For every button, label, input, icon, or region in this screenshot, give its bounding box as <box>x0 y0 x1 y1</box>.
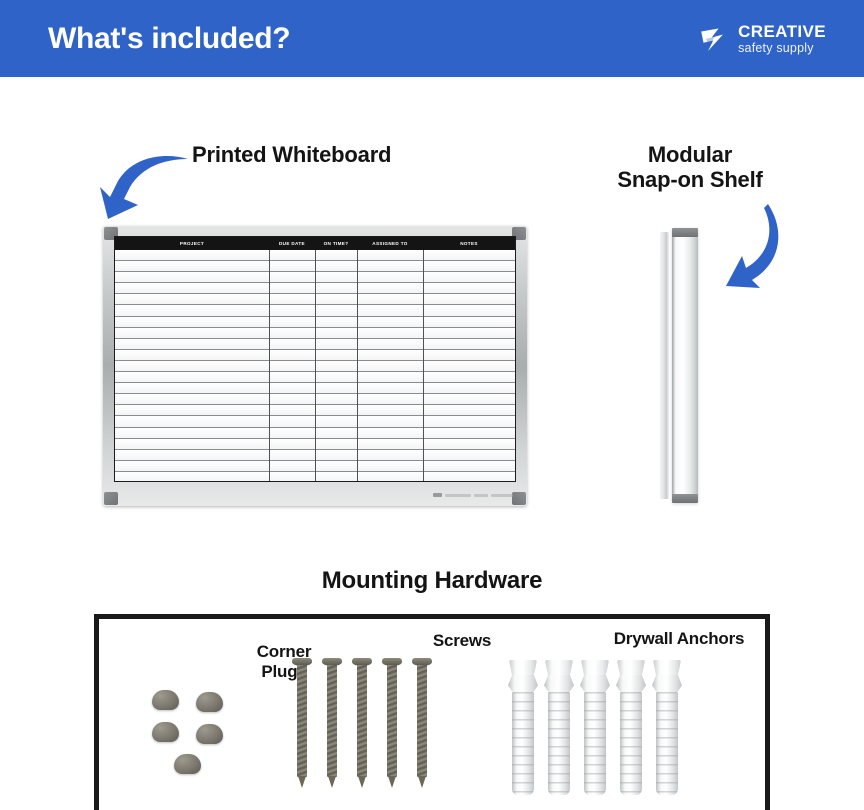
shelf-heading: Modular Snap-on Shelf <box>580 143 800 192</box>
drywall-anchor <box>544 660 574 795</box>
drywall-anchor <box>508 660 538 795</box>
brand-mark-bar-3 <box>491 494 513 497</box>
whiteboard-column-divider-3 <box>357 250 358 481</box>
mounting-hardware-heading: Mounting Hardware <box>230 568 634 595</box>
screw-shaft <box>417 665 427 777</box>
anchor-body <box>512 692 534 795</box>
shelf-front-panel <box>672 228 698 503</box>
screw <box>292 658 312 788</box>
anchor-body <box>620 692 642 795</box>
anchor-collar <box>653 660 681 677</box>
anchor-body <box>548 692 570 795</box>
shelf-pointer-arrow-icon <box>722 202 792 300</box>
screw-shaft <box>387 665 397 777</box>
drywall-anchors-label: Drywall Anchors <box>529 629 829 649</box>
screw <box>322 658 342 788</box>
shelf-end-cap-top <box>672 228 698 237</box>
anchor-body <box>656 692 678 795</box>
screw-shaft <box>327 665 337 777</box>
whiteboard-column-header-due-date: DUE DATE <box>269 237 315 250</box>
logo-wordmark: CREATIVE safety supply <box>738 23 826 55</box>
whiteboard-column-header-assigned-to: ASSIGNED TO <box>357 237 423 250</box>
whiteboard-column-divider-2 <box>315 250 316 481</box>
anchor-collar <box>617 660 645 677</box>
whiteboard-column-divider-4 <box>423 250 424 481</box>
corner-plug <box>152 722 179 742</box>
screw <box>412 658 432 788</box>
screws-group <box>292 658 434 788</box>
shelf-back-rail <box>660 232 669 499</box>
screw-tip <box>388 776 396 788</box>
whiteboard-surface: PROJECTDUE DATEON TIME?ASSIGNED TONOTES <box>114 236 516 482</box>
screw <box>352 658 372 788</box>
brand-mark-bar-2 <box>474 494 488 497</box>
anchor-body <box>584 692 606 795</box>
whiteboard-column-header-row: PROJECTDUE DATEON TIME?ASSIGNED TONOTES <box>115 237 515 250</box>
shelf-end-cap-bottom <box>672 494 698 503</box>
anchor-collar <box>545 660 573 677</box>
screw-tip <box>418 776 426 788</box>
screw-tip <box>358 776 366 788</box>
whiteboard-column-header-project: PROJECT <box>115 237 269 250</box>
corner-plugs-group <box>152 690 228 770</box>
whiteboard-grid <box>115 250 515 481</box>
creative-safety-supply-arrow-logo-icon <box>699 24 729 54</box>
logo-text-secondary: safety supply <box>738 42 826 55</box>
whiteboard-column-header-notes: NOTES <box>423 237 515 250</box>
corner-plug <box>152 690 179 710</box>
drywall-anchor <box>616 660 646 795</box>
screw-tip <box>298 776 306 788</box>
modular-snap-on-shelf <box>660 228 698 503</box>
logo-text-primary: CREATIVE <box>738 23 826 40</box>
whiteboard-heading: Printed Whiteboard <box>192 143 432 168</box>
corner-plug <box>196 692 223 712</box>
drywall-anchor <box>652 660 682 795</box>
screw <box>382 658 402 788</box>
brand-mark-bar-1 <box>445 494 471 497</box>
corner-plug <box>196 724 223 744</box>
shelf-heading-line1: Modular <box>648 142 732 167</box>
whiteboard-column-divider-1 <box>269 250 270 481</box>
corner-plug <box>174 754 201 774</box>
whiteboard-pointer-arrow-icon <box>98 147 190 225</box>
screw-shaft <box>357 665 367 777</box>
whiteboard-column-header-on-time: ON TIME? <box>315 237 357 250</box>
anchor-collar <box>581 660 609 677</box>
printed-whiteboard: PROJECTDUE DATEON TIME?ASSIGNED TONOTES <box>103 226 527 506</box>
shelf-heading-line2: Snap-on Shelf <box>617 167 762 192</box>
brand-mark-square <box>433 493 442 497</box>
frame-corner-bottom-right <box>512 492 526 505</box>
drywall-anchor <box>580 660 610 795</box>
drywall-anchors-group <box>508 660 684 795</box>
anchor-collar <box>509 660 537 677</box>
whiteboard-brand-mark <box>433 493 513 497</box>
screw-tip <box>328 776 336 788</box>
page-title: What's included? <box>48 24 290 54</box>
screw-shaft <box>297 665 307 777</box>
page-header: What's included? CREATIVE safety supply <box>0 0 864 77</box>
brand-logo: CREATIVE safety supply <box>699 23 826 55</box>
